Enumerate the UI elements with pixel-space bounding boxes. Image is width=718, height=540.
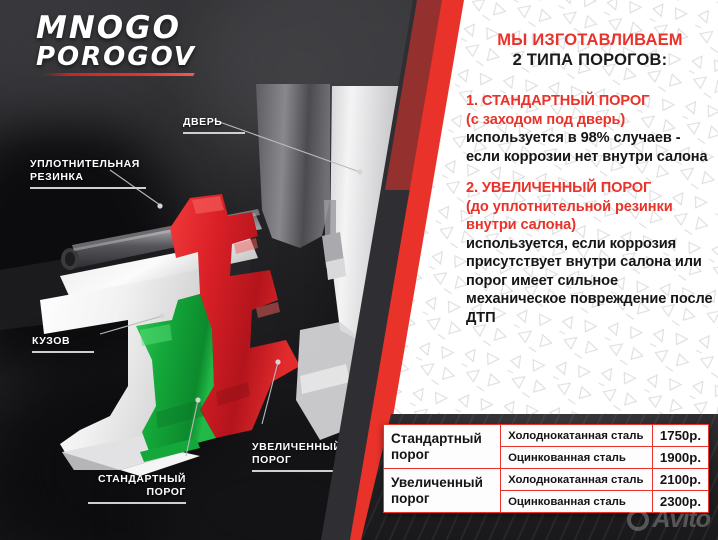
logo-underline-swoosh: [41, 73, 195, 76]
callout-standard-sill: СТАНДАРТНЫЙ ПОРОГ: [88, 460, 186, 517]
callout-underline: [32, 351, 94, 353]
callout-extended-sill-label: УВЕЛИЧЕННЫЙ ПОРОГ: [252, 441, 341, 466]
price-row-price: 1900р.: [652, 447, 708, 469]
headline: МЫ ИЗГОТАВЛИВАЕМ 2 ТИПА ПОРОГОВ:: [466, 30, 714, 70]
callout-standard-sill-label: СТАНДАРТНЫЙ ПОРОГ: [98, 473, 186, 498]
price-row-steel: Холоднокатанная сталь: [501, 425, 653, 447]
callout-rubber-seal-label: УПЛОТНИТЕЛЬНАЯ РЕЗИНКА: [30, 158, 140, 183]
price-row-type: Стандартный порог: [384, 425, 501, 469]
advertisement-banner: ДВЕРЬ УПЛОТНИТЕЛЬНАЯ РЕЗИНКА КУЗОВ СТАНД…: [0, 0, 718, 540]
callout-door: ДВЕРЬ: [183, 103, 253, 147]
price-row-type: Увеличенный порог: [384, 469, 501, 513]
price-row-steel: Оцинкованная сталь: [501, 447, 653, 469]
section-1-subtitle: (с заходом под дверь): [466, 111, 716, 130]
section-2-title: 2. УВЕЛИЧЕННЫЙ ПОРОГ: [466, 179, 716, 198]
table-row: Стандартный порог Холоднокатанная сталь …: [384, 425, 709, 447]
sill-type-section-1: 1. СТАНДАРТНЫЙ ПОРОГ (с заходом под двер…: [466, 92, 716, 166]
section-1-body: используется в 98% случаев - если корроз…: [466, 129, 716, 166]
sill-type-section-2: 2. УВЕЛИЧЕННЫЙ ПОРОГ (до уплотнительной …: [466, 179, 716, 327]
price-table: Стандартный порог Холоднокатанная сталь …: [383, 424, 709, 513]
headline-line-1: МЫ ИЗГОТАВЛИВАЕМ: [466, 30, 714, 50]
callout-underline: [30, 187, 146, 189]
section-2-subtitle: (до уплотнительной резинки внутри салона…: [466, 198, 716, 235]
callout-door-label: ДВЕРЬ: [183, 116, 222, 128]
sill-type-descriptions: 1. СТАНДАРТНЫЙ ПОРОГ (с заходом под двер…: [466, 92, 716, 340]
brand-logo: MNOGO POROGOV: [36, 14, 216, 76]
callout-body: КУЗОВ: [32, 322, 102, 366]
callout-underline: [88, 502, 186, 504]
table-row: Увеличенный порог Холоднокатанная сталь …: [384, 469, 709, 491]
section-1-title: 1. СТАНДАРТНЫЙ ПОРОГ: [466, 92, 716, 111]
callout-body-label: КУЗОВ: [32, 335, 70, 347]
price-row-price: 2100р.: [652, 469, 708, 491]
price-row-price: 1750р.: [652, 425, 708, 447]
price-row-steel: Оцинкованная сталь: [501, 491, 653, 513]
headline-line-2: 2 ТИПА ПОРОГОВ:: [466, 50, 714, 70]
logo-line-1: MNOGO: [36, 14, 216, 43]
callout-rubber-seal: УПЛОТНИТЕЛЬНАЯ РЕЗИНКА: [30, 145, 150, 202]
callout-underline: [183, 132, 245, 134]
section-2-body: используется, если коррозия присутствует…: [466, 235, 716, 328]
price-row-price: 2300р.: [652, 491, 708, 513]
logo-line-2: POROGOV: [36, 45, 216, 70]
price-row-steel: Холоднокатанная сталь: [501, 469, 653, 491]
